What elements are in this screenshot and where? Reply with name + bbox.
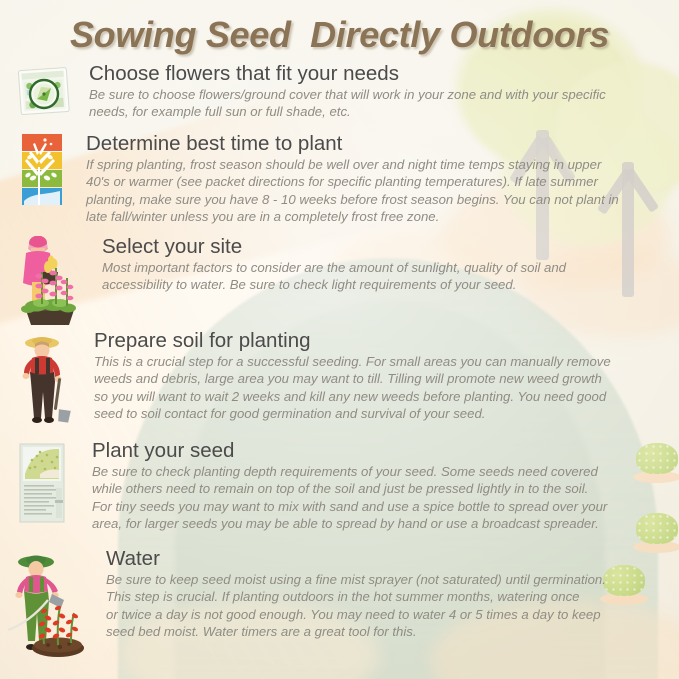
- step-line: area, for larger seeds you may be able t…: [92, 515, 679, 533]
- step-line: planting, make sure you have 8 - 10 week…: [86, 191, 679, 209]
- infographic-poster: Sowing Seed Directly Outdoors: [0, 0, 679, 679]
- step-determine-time: Determine best time to plant If spring p…: [14, 133, 679, 226]
- step-line: This step is crucial. If planting outdoo…: [106, 588, 679, 606]
- step-line: accessibility to water. Be sure to check…: [102, 276, 662, 294]
- step-line: This is a crucial step for a successful …: [94, 353, 679, 371]
- step-heading: Prepare soil for planting: [94, 330, 679, 352]
- step-line: 40's or warmer (see packet directions fo…: [86, 173, 679, 191]
- gardener-with-shovel-icon: [12, 330, 76, 426]
- step-select-site: Select your site Most important factors …: [8, 236, 662, 328]
- step-plant-seed: Plant your seed Be sure to check plantin…: [12, 440, 679, 533]
- step-line: or twice a day is not good enough. You m…: [106, 606, 679, 624]
- gardener-watering-icon: [8, 548, 84, 660]
- step-heading: Choose flowers that fit your needs: [89, 63, 679, 85]
- step-heading: Water: [106, 548, 679, 570]
- step-choose-flowers: Choose flowers that fit your needs Be su…: [14, 63, 679, 125]
- step-line: Be sure to keep seed moist using a fine …: [106, 571, 679, 589]
- step-line: so you will want to wait 2 weeks and kil…: [94, 388, 679, 406]
- step-line: If spring planting, frost season should …: [86, 156, 679, 174]
- step-water: Water Be sure to keep seed moist using a…: [8, 548, 679, 660]
- gardener-with-planter-icon: [8, 236, 80, 328]
- step-line: while others need to remain on top of th…: [92, 480, 679, 498]
- step-prepare-soil: Prepare soil for planting This is a cruc…: [12, 330, 679, 426]
- step-heading: Plant your seed: [92, 440, 679, 462]
- garden-plan-compass-icon: [14, 63, 76, 125]
- step-line: seed bed moist. Water timers are a great…: [106, 623, 679, 641]
- step-line: Most important factors to consider are t…: [102, 259, 662, 277]
- step-line: For tiny seeds you may want to mix with …: [92, 498, 679, 516]
- step-line: seed to soil contact for good germinatio…: [94, 405, 679, 423]
- step-line: weeds and debris, large area you may wan…: [94, 370, 679, 388]
- seed-packet-icon: [12, 440, 74, 526]
- step-line: needs, for example full sun or full shad…: [89, 103, 679, 121]
- step-heading: Select your site: [102, 236, 662, 258]
- step-line: Be sure to check planting depth requirem…: [92, 463, 679, 481]
- steps-list: Choose flowers that fit your needs Be su…: [0, 0, 679, 679]
- step-line: late fall/winter unless you are in a com…: [86, 208, 679, 226]
- step-line: Be sure to choose flowers/ground cover t…: [89, 86, 679, 104]
- step-heading: Determine best time to plant: [86, 133, 679, 155]
- four-seasons-tree-icon: [14, 133, 70, 209]
